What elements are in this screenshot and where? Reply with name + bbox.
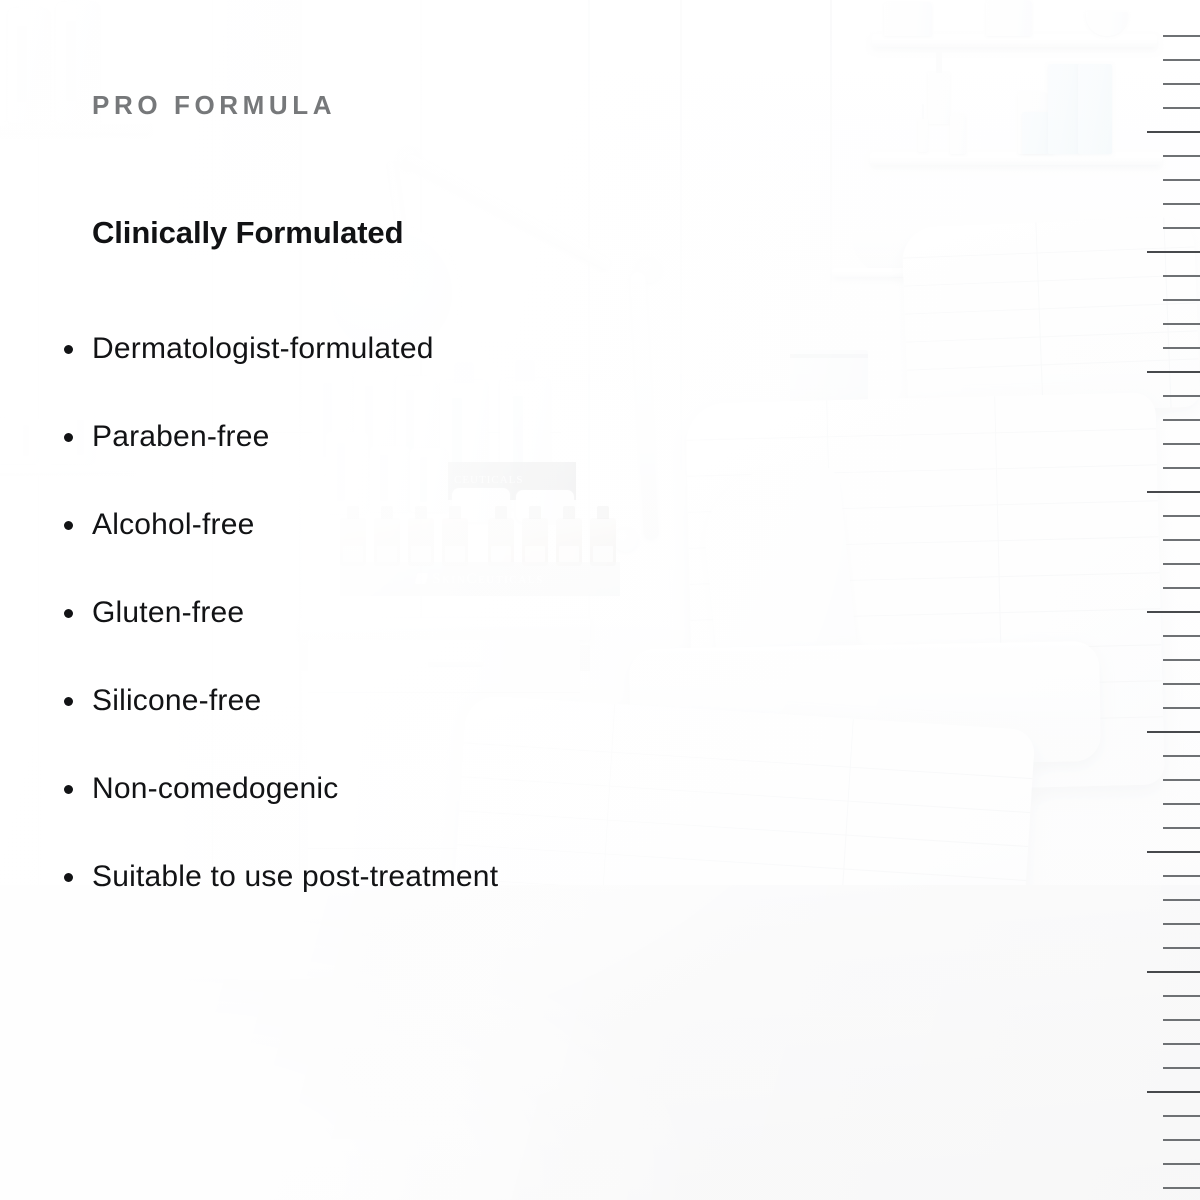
benefit-item-label: Suitable to use post-treatment — [92, 860, 498, 894]
benefit-item: Gluten-free — [62, 569, 702, 657]
shelf-jar — [884, 2, 932, 36]
benefit-item: Suitable to use post-treatment — [62, 833, 702, 921]
benefit-item-label: Dermatologist-formulated — [92, 332, 434, 366]
shelf-tube — [950, 114, 966, 154]
benefit-item-label: Silicone-free — [92, 684, 261, 718]
benefits-list: Dermatologist-formulatedParaben-freeAlco… — [62, 305, 702, 921]
benefit-item-label: Non-comedogenic — [92, 772, 338, 806]
text-content: PRO FORMULA Clinically Formulated Dermat… — [0, 0, 720, 1200]
shelf-product-box — [1048, 64, 1080, 154]
benefit-item: Dermatologist-formulated — [62, 305, 702, 393]
promo-canvas: CEUTICALS SkinCeuticals — [0, 0, 1200, 1200]
eyebrow-label: PRO FORMULA — [92, 90, 336, 121]
benefit-item-label: Alcohol-free — [92, 508, 254, 542]
benefit-item: Paraben-free — [62, 393, 702, 481]
chair-headrest — [901, 216, 1200, 417]
headline: Clinically Formulated — [92, 215, 403, 251]
shelf-product-box — [1078, 64, 1112, 154]
shelf-dropper-bottle — [928, 72, 950, 124]
shelf-jar — [986, 0, 1032, 36]
benefit-item: Alcohol-free — [62, 481, 702, 569]
benefit-item: Silicone-free — [62, 657, 702, 745]
benefit-item-label: Paraben-free — [92, 420, 270, 454]
benefit-item-label: Gluten-free — [92, 596, 244, 630]
wall-seam — [830, 0, 832, 300]
shelf-dropper-bottle — [918, 118, 928, 152]
lower-wall-shelf — [870, 152, 1162, 165]
benefit-item: Non-comedogenic — [62, 745, 702, 833]
